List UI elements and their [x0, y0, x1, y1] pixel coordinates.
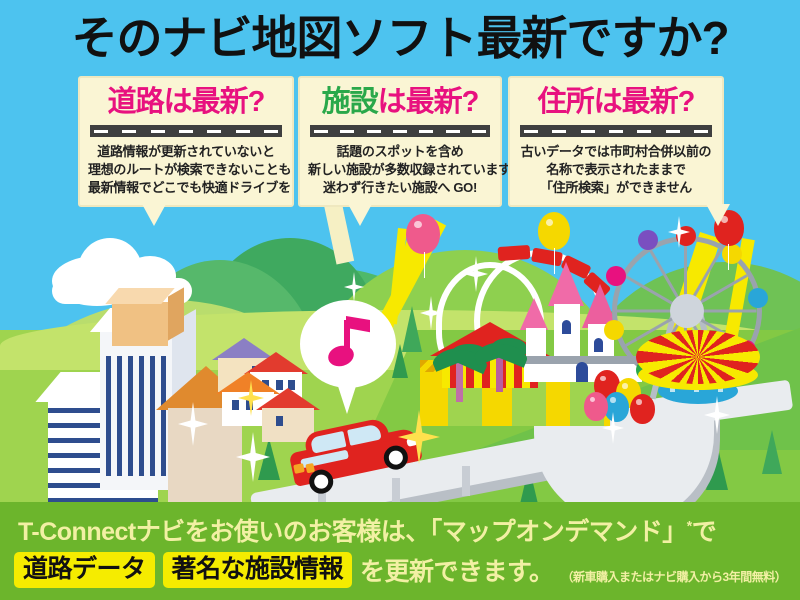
callout-title-main: 施設: [322, 86, 378, 118]
banner-footnote: （新車購入またはナビ購入から3年間無料）: [562, 568, 787, 585]
callout-title-rest: は最新?: [164, 86, 265, 118]
tower-rooftop-box: [112, 302, 168, 346]
balloon: [630, 394, 655, 424]
callout-title-road: 道路は最新?: [88, 84, 284, 120]
music-note-icon: [328, 316, 370, 368]
poster-canvas: そのナビ地図ソフト最新ですか? 道路は最新? 道路情報が更新されていないと 理想…: [0, 0, 800, 600]
road-pillar: [462, 466, 470, 496]
balloon-string: [424, 252, 425, 278]
bottom-banner: T-Connectナビをお使いのお客様は、「マップオンデマンド」*で 道路データ…: [0, 502, 800, 600]
ferris-cabin: [722, 244, 742, 264]
callout-title-rest: は最新?: [594, 86, 695, 118]
coaster-car: [498, 245, 531, 261]
ferris-cabin: [604, 320, 624, 340]
badge-road-data[interactable]: 道路データ: [14, 552, 155, 588]
callout-tail: [142, 204, 166, 226]
banner-line-1: T-Connectナビをお使いのお客様は、「マップオンデマンド」*で: [18, 512, 716, 548]
office-tower: [100, 330, 172, 490]
balloon-string: [554, 248, 555, 274]
callout-body-line: 新しい施設が多数収録されています: [308, 161, 492, 179]
balloon-string: [728, 244, 729, 270]
callout-title-facility: 施設は最新?: [308, 84, 492, 120]
banner-line1-end: で: [692, 518, 717, 546]
page-title: そのナビ地図ソフト最新ですか?: [0, 8, 800, 68]
callout-body-line: 最新情報でどこでも快適ドライブを: [88, 179, 284, 197]
balloon: [406, 214, 440, 254]
palm-tree: [474, 336, 524, 392]
callout-title-rest: は最新?: [378, 86, 479, 118]
callout-body-line: 話題のスポットを含め: [308, 143, 492, 161]
ferris-cabin: [748, 288, 768, 308]
callout-body-line: 古いデータでは市町村合併以前の: [518, 143, 714, 161]
callout-body-line: 名称で表示されたままで: [518, 161, 714, 179]
road-divider-icon: [90, 125, 282, 137]
banner-line-2: 道路データ 著名な施設情報 を更新できます。 （新車購入またはナビ購入から3年間…: [14, 552, 786, 588]
callout-facility[interactable]: 施設は最新? 話題のスポットを含め 新しい施設が多数収録されています 迷わず行き…: [298, 76, 502, 207]
music-note-bubble: [300, 300, 396, 388]
callout-road[interactable]: 道路は最新? 道路情報が更新されていないと 理想のルートが検索できないことも 最…: [78, 76, 294, 207]
balloon: [584, 392, 608, 421]
road-divider-icon: [520, 125, 712, 137]
badge-facility-info[interactable]: 著名な施設情報: [163, 552, 353, 588]
balloon: [538, 212, 570, 250]
callout-tail: [348, 204, 372, 226]
banner-line2-tail: を更新できます。: [360, 552, 554, 588]
carousel: [636, 330, 760, 404]
callout-address[interactable]: 住所は最新? 古いデータでは市町村合併以前の 名称で表示されたままで 「住所検索…: [508, 76, 724, 207]
callout-title-address: 住所は最新?: [518, 84, 714, 120]
callout-tail: [706, 204, 730, 226]
callout-body-line: 「住所検索」ができません: [518, 179, 714, 197]
banner-line1-text: T-Connectナビをお使いのお客様は、「マップオンデマンド」: [18, 518, 687, 546]
callout-title-main: 道路: [108, 86, 164, 118]
ferris-cabin: [638, 230, 658, 250]
callout-title-main: 住所: [538, 86, 594, 118]
callout-body-line: 迷わず行きたい施設へ GO!: [308, 179, 492, 197]
callout-body-line: 道路情報が更新されていないと: [88, 143, 284, 161]
road-divider-icon: [310, 125, 490, 137]
ferris-cabin: [606, 266, 626, 286]
callout-body-line: 理想のルートが検索できないことも: [88, 161, 284, 179]
